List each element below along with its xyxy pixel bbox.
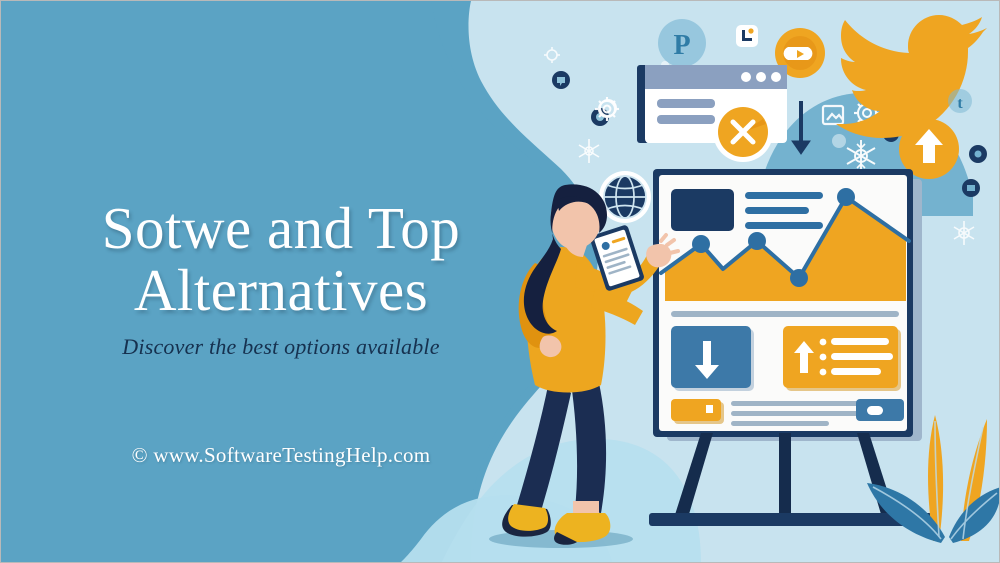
- decorative-dot: [832, 134, 846, 148]
- text-line: [745, 207, 809, 214]
- svg-text:t: t: [957, 95, 963, 112]
- text-line: [745, 222, 823, 229]
- social-dot-icon: [969, 145, 987, 163]
- snowflake-icon: [579, 139, 599, 163]
- close-x-badge-icon: [713, 102, 773, 162]
- copyright-credit: © www.SoftwareTestingHelp.com: [1, 443, 561, 468]
- banner-image: P: [0, 0, 1000, 563]
- gear-icon: [544, 47, 560, 63]
- thumbnail-tile: [671, 189, 734, 231]
- page-title-line-2: Alternatives: [134, 257, 428, 323]
- chart-marker: [837, 188, 855, 206]
- svg-text:P: P: [673, 30, 690, 61]
- chart-marker: [748, 232, 766, 250]
- divider: [671, 311, 899, 317]
- page-title: Sotwe and Top Alternatives: [1, 197, 561, 321]
- chart-marker: [790, 269, 808, 287]
- footer-line: [731, 411, 861, 416]
- app-tile-icon: [736, 25, 758, 47]
- chart-marker: [692, 235, 710, 253]
- footer-line: [731, 401, 861, 406]
- tumblr-t-icon: t: [948, 89, 972, 113]
- text-line: [745, 192, 823, 199]
- footer-tag-orange: [671, 399, 721, 421]
- social-dot-icon: [962, 179, 980, 197]
- footer-line: [731, 421, 829, 426]
- pinterest-p-icon: P: [658, 19, 706, 67]
- window-dot: [756, 72, 766, 82]
- window-dot: [771, 72, 781, 82]
- page-subtitle: Discover the best options available: [1, 334, 561, 360]
- social-dot-icon: [552, 71, 570, 89]
- snowflake-icon: [954, 221, 974, 245]
- window-dot: [741, 72, 751, 82]
- page-title-line-1: Sotwe and Top: [102, 195, 461, 261]
